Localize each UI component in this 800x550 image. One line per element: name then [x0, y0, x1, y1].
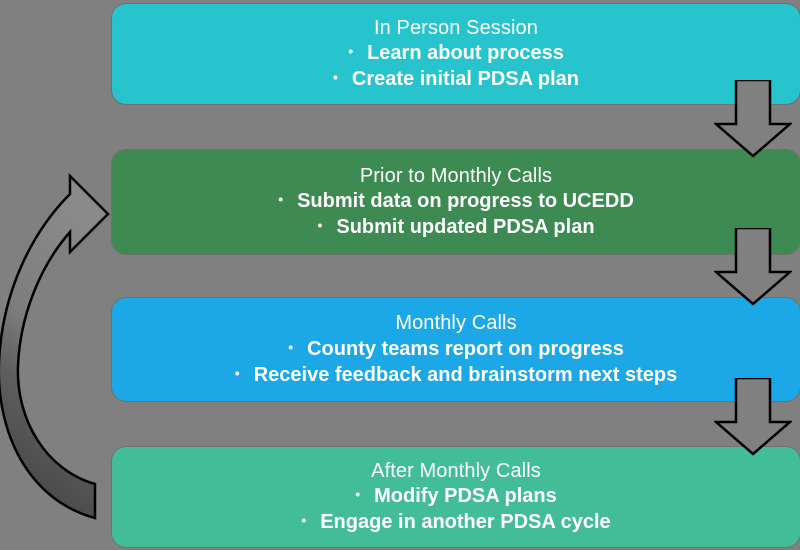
bullet-text: Submit updated PDSA plan — [336, 214, 594, 240]
bullet-text: County teams report on progress — [307, 336, 624, 362]
flowchart-canvas: In Person Session • Learn about process … — [0, 0, 800, 550]
bullet-marker-icon: • — [317, 218, 322, 232]
step-bullet: • Submit data on progress to UCEDD — [278, 188, 634, 214]
bullet-marker-icon: • — [348, 44, 353, 58]
curved-loop-arrow-icon — [0, 170, 118, 530]
bullet-text: Learn about process — [367, 40, 564, 66]
bullet-text: Modify PDSA plans — [374, 483, 557, 509]
step-title: In Person Session — [374, 16, 538, 40]
step-title: Prior to Monthly Calls — [360, 164, 552, 188]
step-bullet: • Modify PDSA plans — [355, 483, 557, 509]
down-arrow-icon — [714, 378, 792, 456]
down-arrow-icon — [714, 228, 792, 306]
bullet-text: Engage in another PDSA cycle — [320, 509, 610, 535]
step-bullet: • Engage in another PDSA cycle — [301, 509, 610, 535]
step-bullet: • Create initial PDSA plan — [333, 66, 579, 92]
step-title: After Monthly Calls — [371, 459, 541, 483]
bullet-text: Submit data on progress to UCEDD — [297, 188, 634, 214]
step-box-monthly-calls[interactable]: Monthly Calls • County teams report on p… — [112, 298, 800, 401]
bullet-text: Receive feedback and brainstorm next ste… — [254, 362, 678, 388]
bullet-marker-icon: • — [278, 192, 283, 206]
step-box-prior-to-monthly-calls[interactable]: Prior to Monthly Calls • Submit data on … — [112, 150, 800, 254]
bullet-marker-icon: • — [333, 70, 338, 84]
bullet-marker-icon: • — [301, 513, 306, 527]
bullet-marker-icon: • — [235, 366, 240, 380]
bullet-marker-icon: • — [288, 340, 293, 354]
down-arrow-icon — [714, 80, 792, 158]
bullet-text: Create initial PDSA plan — [352, 66, 579, 92]
step-bullet: • County teams report on progress — [288, 336, 624, 362]
step-title: Monthly Calls — [395, 311, 516, 335]
step-box-after-monthly-calls[interactable]: After Monthly Calls • Modify PDSA plans … — [112, 447, 800, 547]
bullet-marker-icon: • — [355, 487, 360, 501]
step-bullet: • Learn about process — [348, 40, 564, 66]
step-bullet: • Receive feedback and brainstorm next s… — [235, 362, 677, 388]
step-bullet: • Submit updated PDSA plan — [317, 214, 594, 240]
step-box-in-person-session[interactable]: In Person Session • Learn about process … — [112, 4, 800, 104]
